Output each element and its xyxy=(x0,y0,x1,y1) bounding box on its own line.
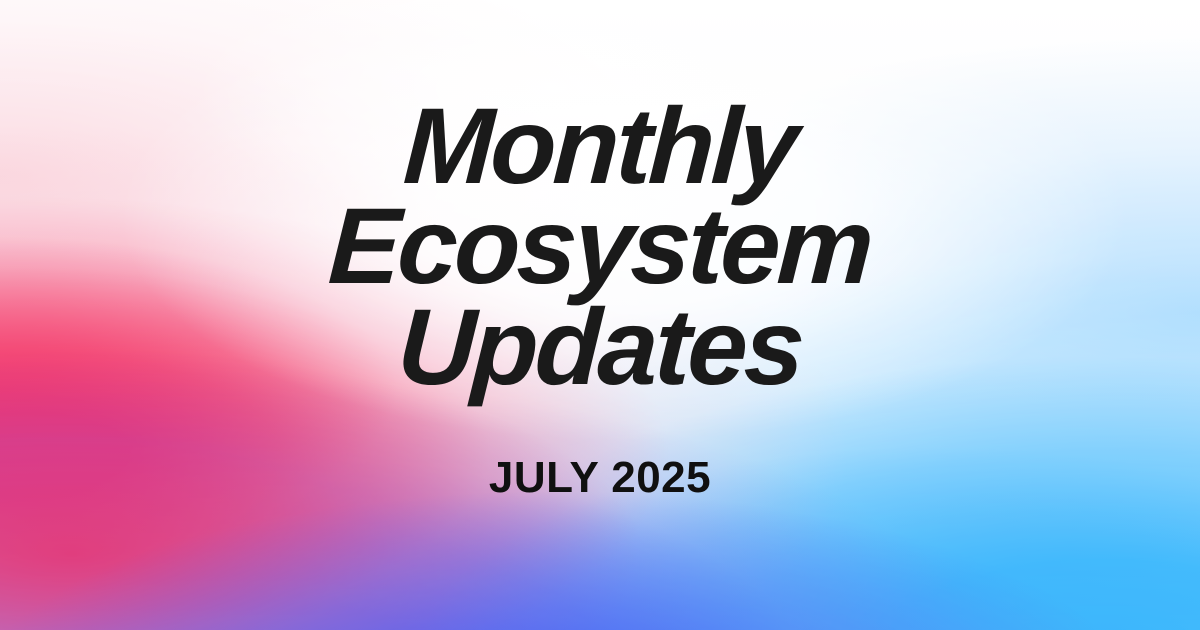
banner-date-subtitle: JULY 2025 xyxy=(489,453,711,503)
page-title: Monthly Ecosystem Updates xyxy=(329,96,871,397)
banner-content: Monthly Ecosystem Updates JULY 2025 xyxy=(0,0,1200,630)
title-line-3: Updates xyxy=(327,297,874,397)
title-line-2: Ecosystem xyxy=(327,196,874,296)
monthly-ecosystem-updates-banner: Monthly Ecosystem Updates JULY 2025 xyxy=(0,0,1200,630)
title-line-1: Monthly xyxy=(327,96,874,196)
